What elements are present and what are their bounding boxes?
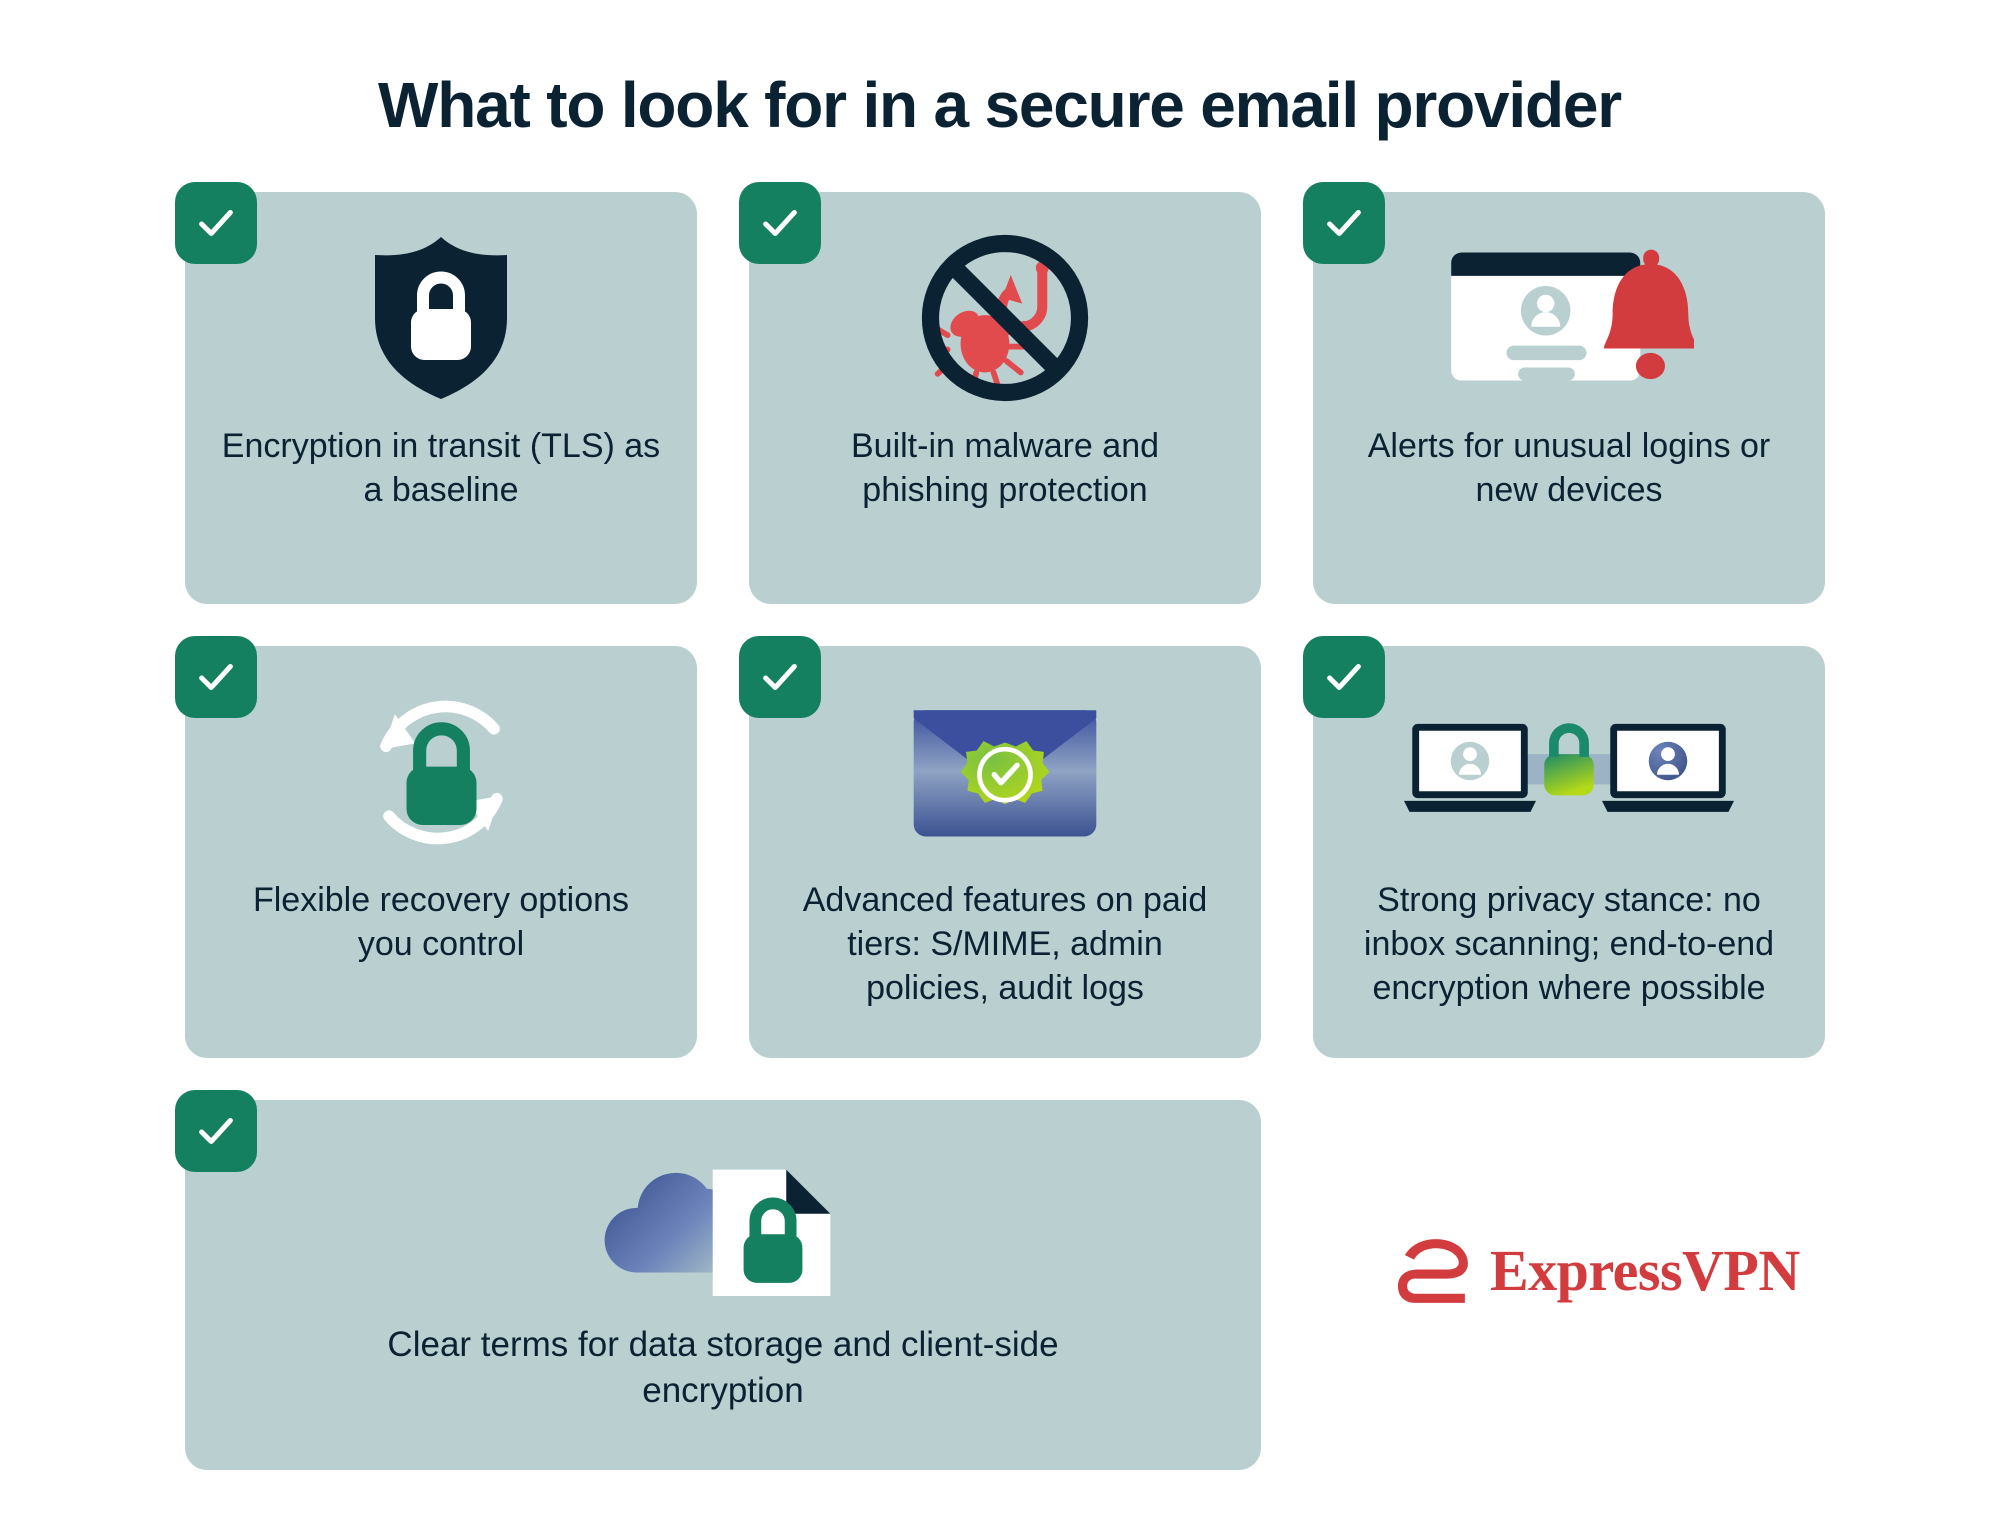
card-text: Alerts for unusual logins or new devices: [1349, 424, 1789, 512]
card-privacy-stance: Strong privacy stance: no inbox scanning…: [1313, 646, 1825, 1058]
check-icon: [193, 1108, 239, 1154]
infographic-page: What to look for in a secure email provi…: [0, 0, 1999, 1520]
check-badge: [175, 182, 257, 264]
check-badge: [1303, 636, 1385, 718]
check-icon: [1321, 200, 1367, 246]
expressvpn-e-mark-icon: [1398, 1233, 1474, 1309]
card-clear-terms: Clear terms for data storage and client-…: [185, 1100, 1261, 1470]
shield-lock-icon: [366, 234, 516, 402]
icon-container: [1404, 674, 1734, 870]
page-title: What to look for in a secure email provi…: [0, 68, 1999, 142]
check-icon: [193, 654, 239, 700]
check-icon: [757, 200, 803, 246]
icon-container: [366, 220, 516, 416]
expressvpn-logo: ExpressVPN: [1398, 1233, 1800, 1309]
check-badge: [175, 1090, 257, 1172]
icon-container: [911, 674, 1099, 870]
card-text: Built-in malware and phishing protection: [785, 424, 1225, 512]
card-text: Advanced features on paid tiers: S/MIME,…: [785, 878, 1225, 1011]
check-badge: [739, 182, 821, 264]
icon-container: [354, 674, 529, 870]
icon-container: [598, 1134, 848, 1314]
check-badge: [175, 636, 257, 718]
card-advanced-features: Advanced features on paid tiers: S/MIME,…: [749, 646, 1261, 1058]
icon-container: [919, 220, 1091, 416]
cloud-document-lock-icon: [598, 1149, 848, 1299]
card-text: Strong privacy stance: no inbox scanning…: [1349, 878, 1789, 1011]
card-login-alerts: Alerts for unusual logins or new devices: [1313, 192, 1825, 604]
card-text: Encryption in transit (TLS) as a baselin…: [221, 424, 661, 512]
card-flexible-recovery: Flexible recovery options you control: [185, 646, 697, 1058]
lock-refresh-icon: [354, 685, 529, 860]
check-badge: [1303, 182, 1385, 264]
check-icon: [193, 200, 239, 246]
no-malware-phishing-icon: [919, 232, 1091, 404]
two-laptops-lock-icon: [1404, 710, 1734, 834]
card-text: Flexible recovery options you control: [221, 878, 661, 966]
check-badge: [739, 636, 821, 718]
expressvpn-wordmark: ExpressVPN: [1490, 1242, 1800, 1300]
verified-envelope-icon: [911, 704, 1099, 840]
check-icon: [757, 654, 803, 700]
login-alert-bell-icon: [1444, 238, 1694, 398]
card-malware-phishing: Built-in malware and phishing protection: [749, 192, 1261, 604]
card-encryption-in-transit: Encryption in transit (TLS) as a baselin…: [185, 192, 697, 604]
check-icon: [1321, 654, 1367, 700]
card-text: Clear terms for data storage and client-…: [373, 1322, 1073, 1413]
icon-container: [1444, 220, 1694, 416]
